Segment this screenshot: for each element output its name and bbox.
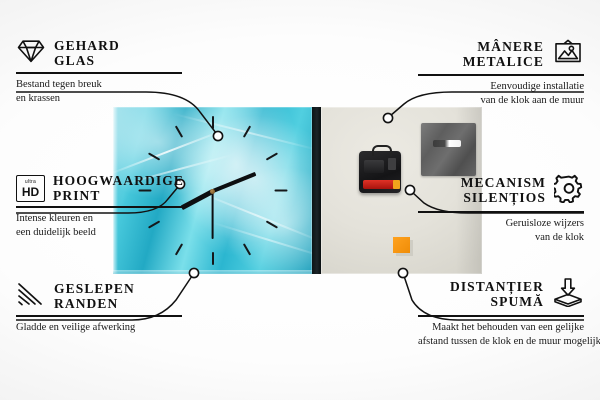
- press-down-pad-icon: [552, 277, 584, 312]
- infographic-canvas: GEHARD GLAS Bestand tegen breuk en krass…: [0, 0, 600, 400]
- hour-tick: [212, 252, 214, 265]
- hour-tick: [175, 125, 183, 137]
- mechanism-dial: [388, 158, 396, 170]
- feature-subtitle: Geruisloze wijzers van de klok: [418, 217, 584, 245]
- feature-title: DISTANȚIER SPUMĂ: [450, 280, 544, 309]
- hour-tick: [212, 116, 214, 129]
- feature-rule: [16, 72, 182, 74]
- feature-tempered-glass: GEHARD GLAS Bestand tegen breuk en krass…: [16, 38, 182, 106]
- panel-separator: [312, 107, 321, 274]
- feature-header: GEHARD GLAS: [16, 38, 182, 69]
- hour-hand: [180, 189, 214, 210]
- hour-tick: [266, 152, 278, 160]
- metal-hanger: [421, 123, 476, 176]
- feature-high-quality-print: ultra HD HOOGWAARDIGE PRINT Intense kleu…: [16, 174, 182, 240]
- feature-metal-handles: MÂNERE METALICE Eenvoudige installatie v…: [418, 38, 584, 108]
- diagonal-lines-icon: [16, 281, 46, 312]
- hour-tick: [275, 190, 288, 192]
- feature-title: GEHARD GLAS: [54, 39, 120, 68]
- feature-subtitle: Gladde en veilige afwerking: [16, 321, 182, 335]
- feature-rule: [418, 315, 584, 317]
- mechanism-hook: [372, 145, 392, 156]
- gear-icon: [554, 174, 584, 208]
- hour-tick: [175, 243, 183, 255]
- minute-hand: [212, 172, 256, 193]
- clock-hub: [210, 189, 215, 194]
- hanging-picture-icon: [552, 38, 584, 71]
- foam-spacer: [393, 237, 410, 253]
- feature-rule: [418, 74, 584, 76]
- hour-tick: [148, 152, 160, 160]
- feature-title: HOOGWAARDIGE PRINT: [53, 174, 184, 203]
- feature-header: MECANISM SILENȚIOS: [418, 174, 584, 208]
- battery-terminal: [393, 180, 400, 189]
- feature-title: MECANISM SILENȚIOS: [461, 176, 546, 205]
- hour-tick: [243, 243, 251, 255]
- ultra-hd-icon: ultra HD: [16, 175, 45, 202]
- clock-mechanism: [359, 151, 401, 193]
- feature-subtitle: Bestand tegen breuk en krassen: [16, 78, 182, 106]
- hanger-slot: [433, 140, 461, 147]
- feature-rule: [16, 315, 182, 317]
- feature-subtitle: Intense kleuren en een duidelijk beeld: [16, 212, 182, 240]
- diamond-icon: [16, 38, 46, 69]
- hour-tick: [243, 125, 251, 137]
- feature-header: ultra HD HOOGWAARDIGE PRINT: [16, 174, 182, 203]
- feature-header: GESLEPEN RANDEN: [16, 281, 182, 312]
- mechanism-body: [364, 160, 384, 173]
- feature-title: MÂNERE METALICE: [463, 40, 544, 69]
- battery: [363, 180, 397, 189]
- feature-header: DISTANȚIER SPUMĂ: [418, 277, 584, 312]
- feature-rule: [418, 211, 584, 213]
- second-hand: [212, 191, 214, 239]
- feature-rule: [16, 206, 182, 208]
- hour-tick: [266, 220, 278, 228]
- feature-header: MÂNERE METALICE: [418, 38, 584, 71]
- feature-subtitle: Maakt het behouden van een gelijke afsta…: [418, 321, 584, 349]
- feature-subtitle: Eenvoudige installatie van de klok aan d…: [418, 80, 584, 108]
- feature-foam-spacer: DISTANȚIER SPUMĂ Maakt het behouden van …: [418, 277, 584, 349]
- feature-title: GESLEPEN RANDEN: [54, 282, 135, 311]
- feature-silent-mechanism: MECANISM SILENȚIOS Geruisloze wijzers va…: [418, 174, 584, 245]
- feature-polished-edges: GESLEPEN RANDEN Gladde en veilige afwerk…: [16, 281, 182, 335]
